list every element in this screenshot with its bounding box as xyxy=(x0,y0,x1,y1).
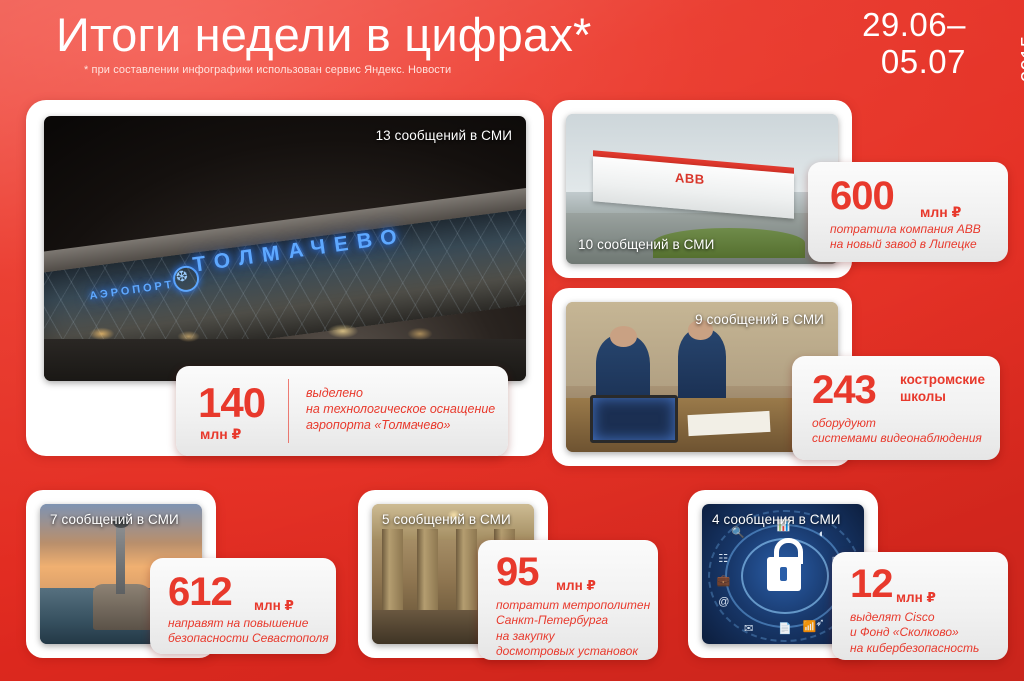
at-sign-icon: @ xyxy=(718,596,729,608)
desc-line: на кибербезопасность xyxy=(850,641,979,656)
media-count-caption-cybersecurity: 4 сообщения в СМИ xyxy=(712,512,841,527)
media-count-caption-tolmachevo: 13 сообщений в СМИ xyxy=(376,128,512,143)
desc-line: потратила компания ABB xyxy=(830,222,981,237)
desc-line: направят на повышение xyxy=(168,616,329,631)
network-icon: ☷ xyxy=(718,552,728,565)
stat-description-95: потратит метрополитен Санкт-Петербурга н… xyxy=(496,598,650,659)
abb-logo: ABB xyxy=(675,170,705,187)
media-count-caption-abb: 10 сообщений в СМИ xyxy=(578,237,714,252)
stat-description-140: выделено на технологическое оснащение аэ… xyxy=(306,385,495,433)
pie-chart-icon: ◐ xyxy=(819,528,826,540)
stat-card-kostroma: 243 костромские школы оборудуют системам… xyxy=(792,356,1000,460)
stat-unit-line: костромские xyxy=(900,372,985,389)
mail-icon: ✉ xyxy=(744,622,753,635)
media-count-caption-kostroma: 9 сообщений в СМИ xyxy=(695,312,824,327)
stat-unit-140: млн ₽ xyxy=(200,426,241,443)
desc-line: на новый завод в Липецке xyxy=(830,237,981,252)
photo-abb-factory: ABB 10 сообщений в СМИ xyxy=(566,114,838,264)
briefcase-icon: 💼 xyxy=(717,574,731,587)
stat-unit-243: костромские школы xyxy=(900,372,985,406)
desc-line: досмотровых установок xyxy=(496,644,650,659)
desc-line: и Фонд «Сколково» xyxy=(850,625,979,640)
stat-description-12: выделят Cisco и Фонд «Сколково» на кибер… xyxy=(850,610,979,656)
sevastopol-column xyxy=(116,524,125,594)
header-footnote: * при составлении инфографики использова… xyxy=(84,64,451,76)
desc-line: оборудуют xyxy=(812,416,982,431)
wifi-icon: 📶 xyxy=(802,620,816,633)
metro-column xyxy=(456,529,477,613)
media-count-caption-sevastopol: 7 сообщений в СМИ xyxy=(50,512,179,527)
media-count-caption-spb-metro: 5 сообщений в СМИ xyxy=(382,512,511,527)
cursor-icon: ➶ xyxy=(815,616,824,629)
desc-line: на технологическое оснащение xyxy=(306,401,495,417)
date-range: 29.06– 05.07 xyxy=(816,6,966,80)
divider xyxy=(288,379,289,443)
page-title: Итоги недели в цифрах* xyxy=(56,8,592,62)
stat-unit-612: млн ₽ xyxy=(254,598,294,614)
desc-line: выделено xyxy=(306,385,495,401)
stat-number-95: 95 xyxy=(496,552,539,592)
desc-line: аэропорта «Толмачево» xyxy=(306,417,495,433)
stat-unit-600: млн ₽ xyxy=(920,204,961,221)
stat-unit-95: млн ₽ xyxy=(556,578,596,594)
stat-number-243: 243 xyxy=(812,370,876,410)
date-range-line1: 29.06– xyxy=(816,6,966,43)
desc-line: потратит метрополитен xyxy=(496,598,650,613)
stat-unit-12: млн ₽ xyxy=(896,590,936,606)
school-paper xyxy=(688,411,771,436)
infographic-canvas: Итоги недели в цифрах* * при составлении… xyxy=(0,0,1024,681)
stat-card-spb-metro: 95 млн ₽ потратит метрополитен Санкт-Пет… xyxy=(478,540,658,660)
stat-description-612: направят на повышение безопасности Севас… xyxy=(168,616,329,647)
school-person-head xyxy=(610,326,637,347)
stat-description-600: потратила компания ABB на новый завод в … xyxy=(830,222,981,253)
desc-line: безопасности Севастополя xyxy=(168,631,329,646)
desc-line: выделят Cisco xyxy=(850,610,979,625)
stat-description-243: оборудуют системами видеонаблюдения xyxy=(812,416,982,447)
stat-card-sevastopol: 612 млн ₽ направят на повышение безопасн… xyxy=(150,558,336,654)
airport-sign-word-small: АЭРОПОРТ xyxy=(89,278,175,302)
stat-number-140: 140 xyxy=(198,382,265,424)
stat-card-tolmachevo: 140 млн ₽ выделено на технологическое ос… xyxy=(176,366,508,456)
photo-tolmachevo: АЭРОПОРТ ТОЛМАЧЕВО 13 сообщений в СМИ xyxy=(44,116,526,381)
desc-line: на закупку xyxy=(496,629,650,644)
header: Итоги недели в цифрах* * при составлении… xyxy=(0,0,1024,100)
document-icon: 📄 xyxy=(778,622,792,635)
stat-number-600: 600 xyxy=(830,176,894,216)
lock-icon xyxy=(767,557,801,591)
stat-card-cybersecurity: 12 млн ₽ выделят Cisco и Фонд «Сколково»… xyxy=(832,552,1008,660)
stat-number-12: 12 xyxy=(850,564,893,604)
stat-card-abb: 600 млн ₽ потратила компания ABB на новы… xyxy=(808,162,1008,262)
cctv-monitor xyxy=(590,395,678,443)
metro-column xyxy=(417,529,438,613)
stat-unit-line: школы xyxy=(900,389,985,406)
metro-column xyxy=(382,529,403,613)
desc-line: системами видеонаблюдения xyxy=(812,431,982,446)
stat-number-612: 612 xyxy=(168,572,232,612)
date-range-line2: 05.07 xyxy=(816,43,966,80)
search-icon: 🔍 xyxy=(731,526,745,539)
desc-line: Санкт-Петербурга xyxy=(496,613,650,628)
year-label: 2015 г. xyxy=(1018,18,1024,82)
